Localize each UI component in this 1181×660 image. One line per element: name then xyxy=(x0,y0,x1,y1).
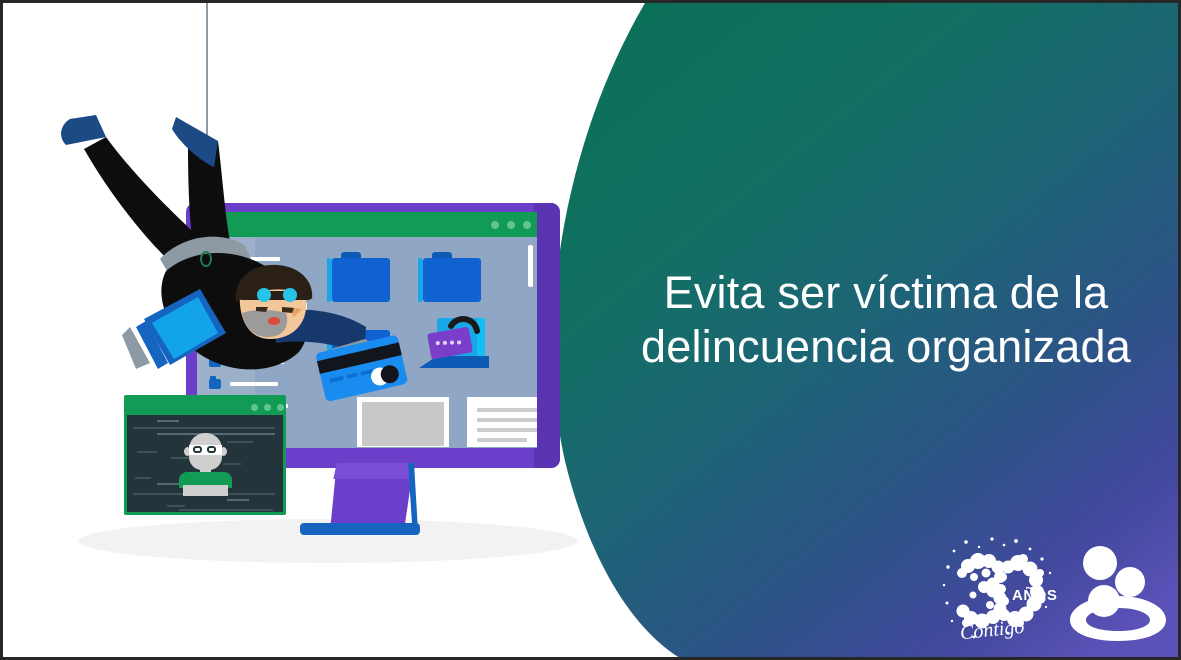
hacker-window-titlebar xyxy=(127,398,283,415)
avatar-eye-right xyxy=(207,446,216,453)
laptop-with-padlock-icon[interactable] xyxy=(415,312,497,378)
credit-card-icon[interactable] xyxy=(313,325,413,403)
terminal-line-7 xyxy=(223,463,241,465)
window-dot-2[interactable] xyxy=(507,221,515,229)
hacker-terminal-window[interactable] xyxy=(124,395,286,515)
terminal-line-13 xyxy=(179,509,273,511)
page-title: Evita ser víctima de la delincuencia org… xyxy=(603,266,1169,374)
anniversary-logo: AÑOS Contigo xyxy=(938,533,1060,649)
terminal-line-12 xyxy=(167,505,185,507)
folder-body xyxy=(423,258,481,302)
terminal-line-6 xyxy=(171,457,189,459)
document-card-image[interactable] xyxy=(357,397,449,447)
terminal-line-5 xyxy=(137,451,157,453)
avatar-torso xyxy=(183,485,228,496)
hacker-window-dot-3[interactable] xyxy=(277,404,284,411)
terminal-line-4 xyxy=(227,441,253,443)
monitor-bezel-shadow xyxy=(534,203,560,468)
document-thumbnail xyxy=(362,402,444,446)
rope-carabiner-icon xyxy=(200,251,212,267)
page-title-line-2: delincuencia organizada xyxy=(603,320,1169,374)
window-dot-1[interactable] xyxy=(491,221,499,229)
document-text-line-1 xyxy=(477,408,537,412)
avatar-eye-left xyxy=(193,446,202,453)
hacker-window-body xyxy=(127,415,283,512)
window-dot-3[interactable] xyxy=(523,221,531,229)
terminal-line-1 xyxy=(157,420,179,422)
slide-canvas: RIF: J-07013380-5 xyxy=(0,0,1181,660)
page-title-line-1: Evita ser víctima de la xyxy=(603,266,1169,320)
content-scrollbar[interactable] xyxy=(528,245,533,287)
terminal-line-8 xyxy=(135,477,151,479)
brand-people-icon xyxy=(1068,538,1168,643)
terminal-line-2 xyxy=(133,427,275,429)
document-text-line-2 xyxy=(477,418,537,422)
terminal-line-3 xyxy=(157,433,275,435)
terminal-line-9 xyxy=(157,483,179,485)
hacker-window-dot-1[interactable] xyxy=(251,404,258,411)
monitor-stand-base xyxy=(300,523,420,535)
terminal-line-11 xyxy=(227,499,249,501)
monitor-stand-highlight xyxy=(330,463,414,479)
document-card-text[interactable] xyxy=(467,397,537,447)
folder-edge xyxy=(418,258,423,302)
document-text-line-3 xyxy=(477,428,537,432)
anniversary-years-label: AÑOS xyxy=(1012,587,1057,604)
document-text-line-4 xyxy=(477,438,527,442)
hacker-window-dot-2[interactable] xyxy=(264,404,271,411)
